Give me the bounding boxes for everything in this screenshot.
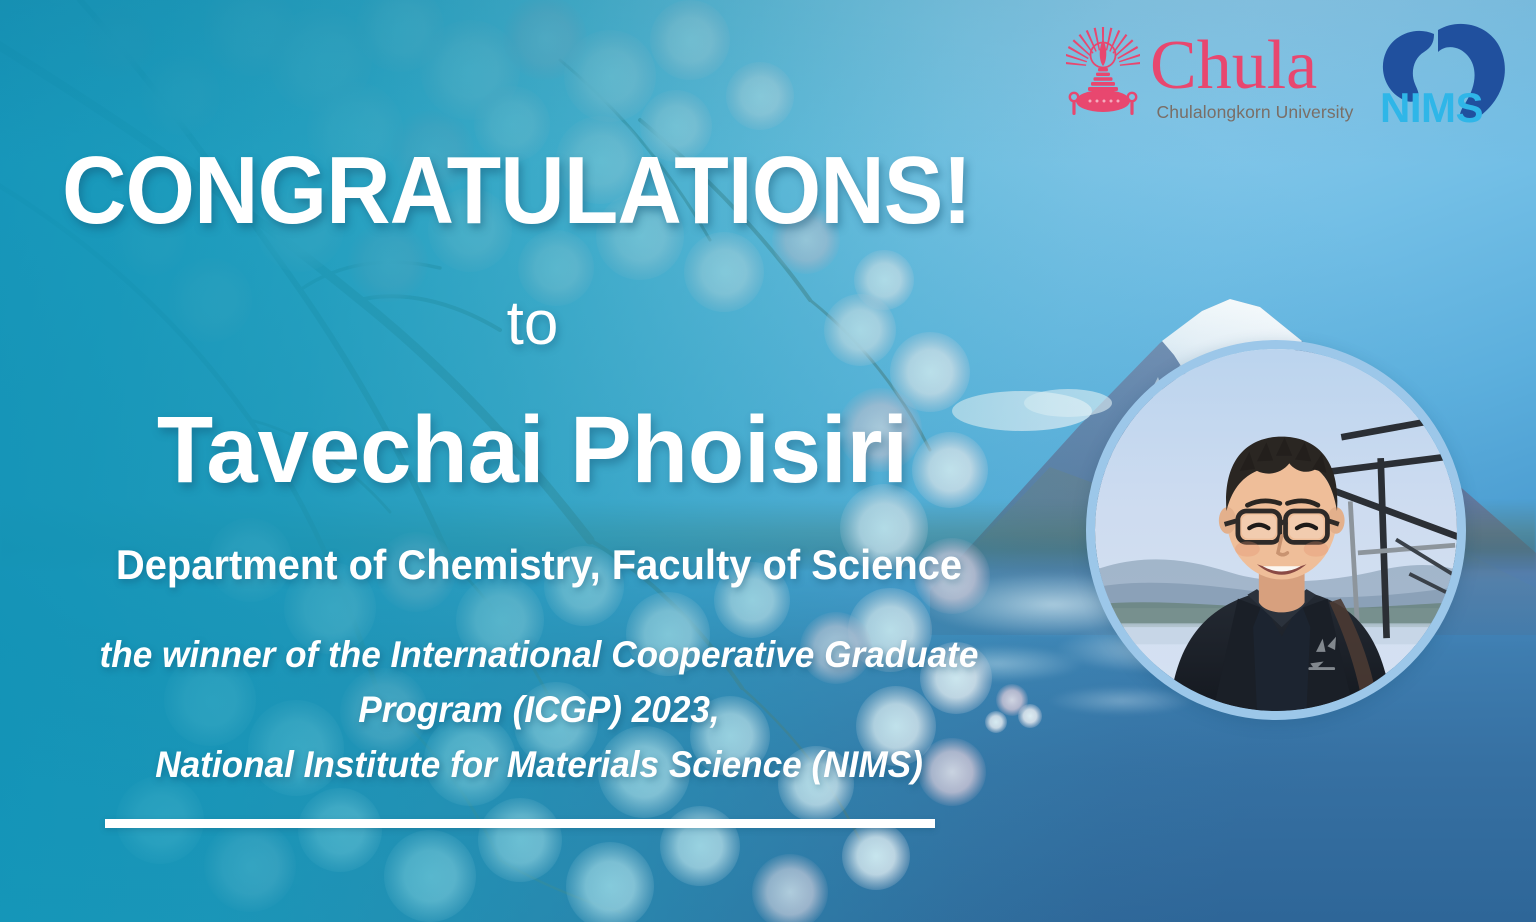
award-line-3: National Institute for Materials Science… — [27, 738, 1051, 793]
award-line-1: the winner of the International Cooperat… — [27, 628, 1051, 683]
nims-wordmark: NIMS — [1380, 84, 1483, 130]
recipient-affiliation: Department of Chemistry, Faculty of Scie… — [27, 541, 1051, 589]
award-description: the winner of the International Cooperat… — [27, 628, 1051, 792]
congratulations-poster: Chula Chulalongkorn University NIMS CONG… — [0, 0, 1536, 922]
svg-text:Chula: Chula — [1150, 30, 1317, 104]
divider-rule — [105, 819, 935, 828]
nims-logo: NIMS — [1376, 22, 1516, 130]
recipient-portrait — [1086, 340, 1466, 720]
chula-wordmark: Chula — [1150, 30, 1360, 106]
chula-logo: Chula Chulalongkorn University — [1066, 23, 1360, 129]
logo-group: Chula Chulalongkorn University NIMS — [1066, 22, 1516, 130]
chula-phra-kiao-emblem-icon — [1066, 23, 1140, 129]
recipient-name: Tavechai Phoisiri — [16, 396, 1049, 505]
chula-subtitle: Chulalongkorn University — [1157, 102, 1354, 123]
connector-text: to — [0, 288, 1065, 359]
page-title: CONGRATULATIONS! — [62, 136, 971, 246]
award-line-2: Program (ICGP) 2023, — [27, 683, 1051, 738]
portrait-photo — [1095, 349, 1457, 711]
